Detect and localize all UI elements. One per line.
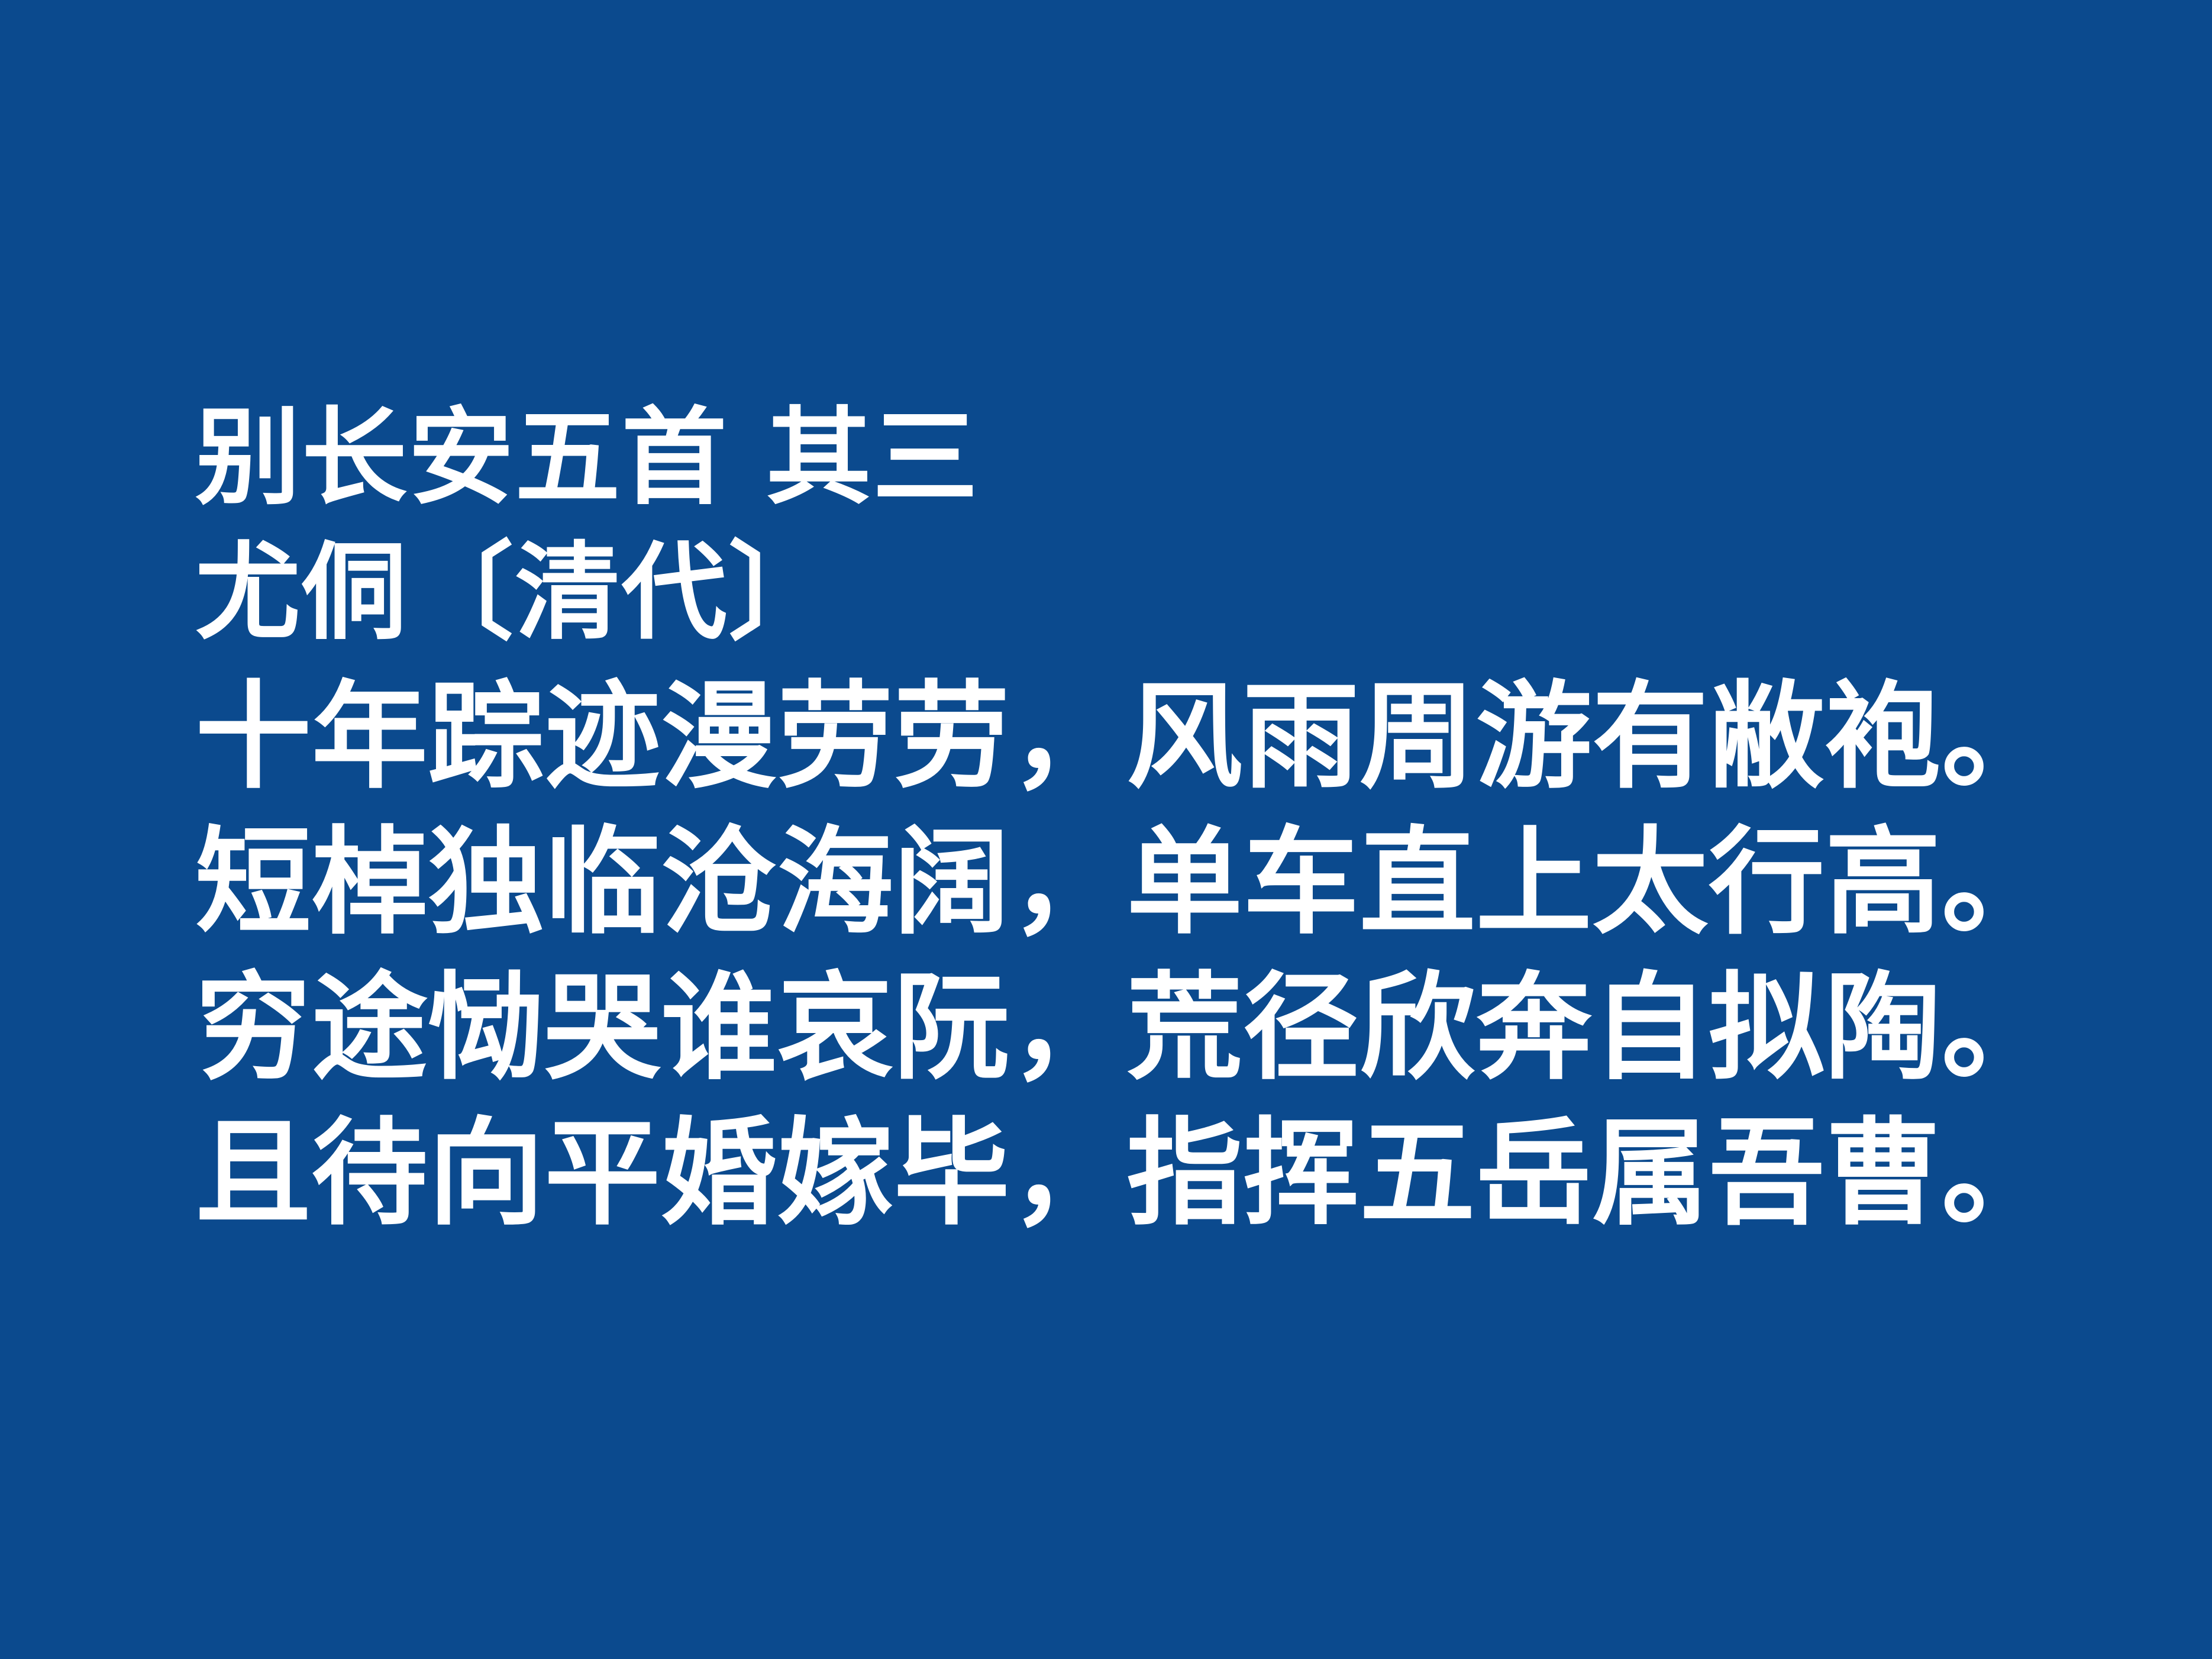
poem-line: 且待向平婚嫁毕，指挥五岳属吾曹。 xyxy=(195,1102,2041,1247)
poem-text-block: 别长安五首 其三 尤侗〔清代〕 十年踪迹漫劳劳，风雨周游有敝袍。 短棹独临沧海阔… xyxy=(195,390,2041,1247)
poem-line: 十年踪迹漫劳劳，风雨周游有敝袍。 xyxy=(195,665,2041,811)
poem-title: 别长安五首 其三 xyxy=(195,390,2041,525)
poem-body: 十年踪迹漫劳劳，风雨周游有敝袍。 短棹独临沧海阔，单车直上太行高。 穷途恸哭谁哀… xyxy=(195,665,2041,1247)
poem-line: 短棹独临沧海阔，单车直上太行高。 xyxy=(195,811,2041,956)
poem-line: 穷途恸哭谁哀阮，荒径欣奔自拟陶。 xyxy=(195,956,2041,1102)
poem-card: 别长安五首 其三 尤侗〔清代〕 十年踪迹漫劳劳，风雨周游有敝袍。 短棹独临沧海阔… xyxy=(0,0,2212,1659)
poem-author-line: 尤侗〔清代〕 xyxy=(195,525,2041,660)
